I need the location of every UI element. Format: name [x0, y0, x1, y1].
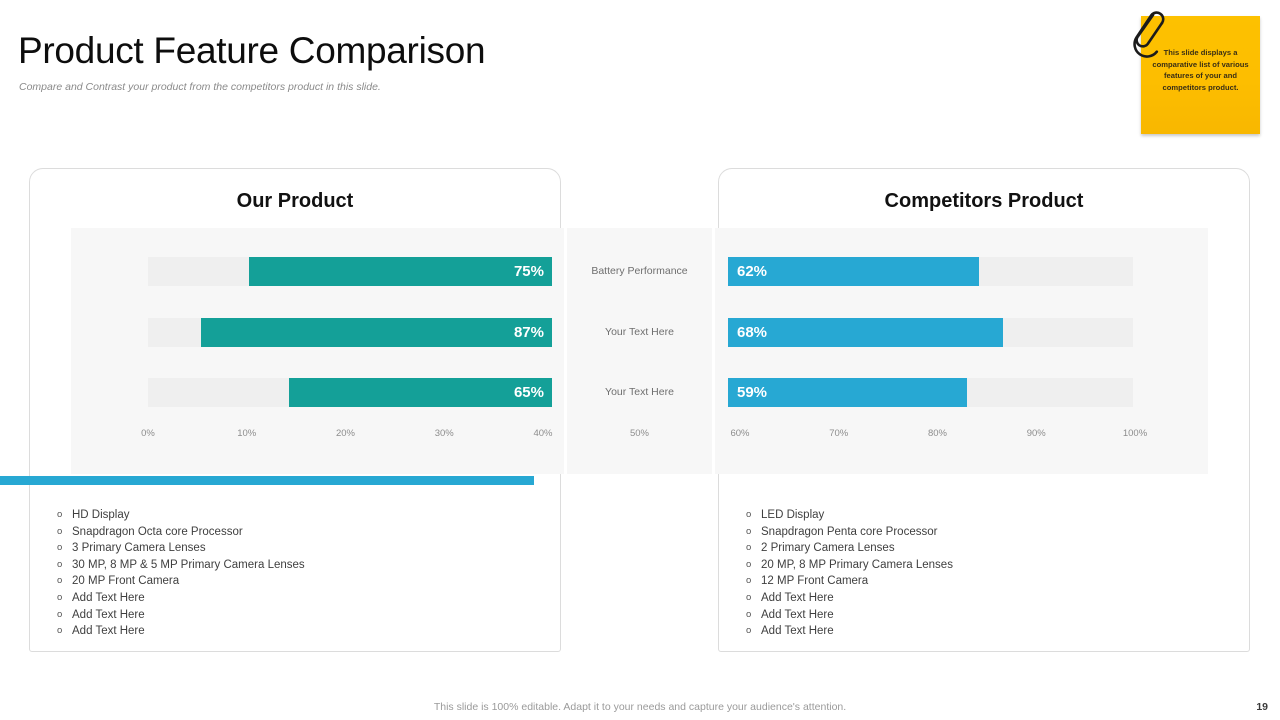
axis-tick: 90%: [1027, 428, 1046, 439]
bar-fill: 59%: [728, 378, 967, 407]
category-label-column: Battery Performance Your Text Here Your …: [567, 228, 712, 474]
competitors-product-bar-chart: 60%70%80%90%100% 62%68%59%: [715, 228, 1208, 474]
bar-value-label: 87%: [514, 318, 544, 347]
axis-tick: 100%: [1123, 428, 1147, 439]
list-item: Add Text Here: [46, 590, 376, 607]
page-number: 19: [1256, 701, 1268, 713]
list-item: 12 MP Front Camera: [735, 573, 1065, 590]
list-item: Snapdragon Penta core Processor: [735, 524, 1065, 541]
axis-tick: 40%: [533, 428, 552, 439]
bar-fill: 87%: [201, 318, 552, 347]
bar-row: 65%: [148, 378, 552, 407]
axis-tick: 70%: [829, 428, 848, 439]
axis-tick: 10%: [237, 428, 256, 439]
axis-tick: 20%: [336, 428, 355, 439]
center-axis-tick: 50%: [567, 428, 712, 439]
bar-row: 68%: [728, 318, 1133, 347]
list-item: Add Text Here: [46, 623, 376, 640]
bar-value-label: 62%: [737, 257, 767, 286]
list-item: 30 MP, 8 MP & 5 MP Primary Camera Lenses: [46, 557, 376, 574]
page-title: Product Feature Comparison: [18, 30, 485, 72]
our-product-title: Our Product: [30, 190, 560, 213]
our-product-bar-chart: 0%10%20%30%40% 75%87%65%: [71, 228, 564, 474]
list-item: HD Display: [46, 507, 376, 524]
list-item: Add Text Here: [735, 590, 1065, 607]
page-subtitle: Compare and Contrast your product from t…: [19, 81, 381, 93]
list-item: Add Text Here: [735, 623, 1065, 640]
category-label-3: Your Text Here: [567, 378, 712, 407]
bar-fill: 62%: [728, 257, 979, 286]
list-item: 20 MP, 8 MP Primary Camera Lenses: [735, 557, 1065, 574]
list-item: 20 MP Front Camera: [46, 573, 376, 590]
our-product-axis: 0%10%20%30%40%: [71, 428, 564, 446]
bar-value-label: 68%: [737, 318, 767, 347]
bar-fill: 75%: [249, 257, 552, 286]
category-label-2: Your Text Here: [567, 318, 712, 347]
competitors-product-title: Competitors Product: [719, 190, 1249, 213]
our-product-feature-list: HD DisplaySnapdragon Octa core Processor…: [46, 507, 376, 640]
competitors-product-axis: 60%70%80%90%100%: [715, 428, 1208, 446]
bar-row: 75%: [148, 257, 552, 286]
sticky-note-text: This slide displays a comparative list o…: [1150, 47, 1251, 93]
sticky-note: This slide displays a comparative list o…: [1141, 16, 1260, 134]
list-item: Snapdragon Octa core Processor: [46, 524, 376, 541]
footer-note: This slide is 100% editable. Adapt it to…: [0, 701, 1280, 713]
bar-row: 87%: [148, 318, 552, 347]
bar-fill: 68%: [728, 318, 1003, 347]
bar-row: 62%: [728, 257, 1133, 286]
competitors-product-feature-list: LED DisplaySnapdragon Penta core Process…: [735, 507, 1065, 640]
list-item: 2 Primary Camera Lenses: [735, 540, 1065, 557]
list-item: Add Text Here: [46, 607, 376, 624]
competitors-product-accent-bar: [0, 476, 534, 485]
bar-value-label: 59%: [737, 378, 767, 407]
category-label-1: Battery Performance: [567, 257, 712, 286]
list-item: 3 Primary Camera Lenses: [46, 540, 376, 557]
axis-tick: 30%: [435, 428, 454, 439]
bar-value-label: 75%: [514, 257, 544, 286]
axis-tick: 60%: [730, 428, 749, 439]
bar-fill: 65%: [289, 378, 552, 407]
axis-tick: 80%: [928, 428, 947, 439]
bar-row: 59%: [728, 378, 1133, 407]
list-item: Add Text Here: [735, 607, 1065, 624]
list-item: LED Display: [735, 507, 1065, 524]
axis-tick: 0%: [141, 428, 155, 439]
bar-value-label: 65%: [514, 378, 544, 407]
